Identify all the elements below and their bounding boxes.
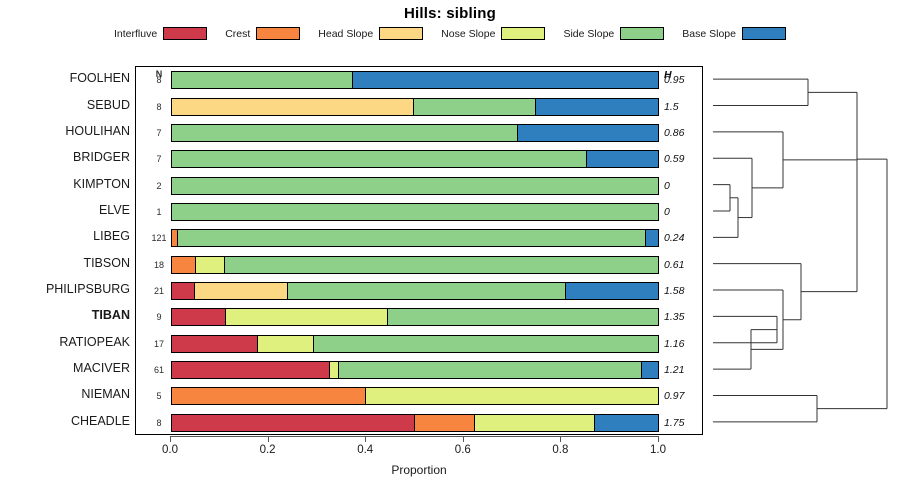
bar-segment-side-slope[interactable] [172, 204, 658, 220]
x-tick [463, 436, 464, 442]
bar-segment-side-slope[interactable] [225, 257, 658, 273]
legend-label: Head Slope [318, 28, 373, 40]
bar-segment-base-slope[interactable] [595, 415, 658, 431]
bar-segment-nose-slope[interactable] [366, 388, 658, 404]
bar-row[interactable] [171, 282, 659, 300]
y-axis-label-nieman[interactable]: NIEMAN [0, 387, 130, 401]
n-value: 17 [146, 339, 172, 349]
h-value: 1.75 [664, 417, 702, 429]
bar-track [171, 203, 659, 221]
bar-row[interactable] [171, 177, 659, 195]
h-value: 0.97 [664, 390, 702, 402]
bar-segment-nose-slope[interactable] [330, 362, 339, 378]
y-axis-label-sebud[interactable]: SEBUD [0, 98, 130, 112]
h-value: 0.24 [664, 232, 702, 244]
x-tick-label: 0.2 [248, 444, 288, 456]
bar-segment-base-slope[interactable] [642, 362, 658, 378]
legend-label: Nose Slope [441, 28, 495, 40]
bar-segment-side-slope[interactable] [314, 336, 658, 352]
plot-panel: NH80.9581.570.8670.5920101210.24180.6121… [135, 66, 703, 435]
h-value: 0.95 [664, 74, 702, 86]
x-tick [170, 436, 171, 442]
y-axis-label-bridger[interactable]: BRIDGER [0, 150, 130, 164]
bar-row[interactable] [171, 414, 659, 432]
bar-segment-base-slope[interactable] [353, 72, 658, 88]
bar-segment-nose-slope[interactable] [258, 336, 314, 352]
x-tick-label: 0.4 [345, 444, 385, 456]
bar-segment-head-slope[interactable] [172, 99, 414, 115]
bar-row[interactable] [171, 203, 659, 221]
bar-track [171, 256, 659, 274]
bar-segment-side-slope[interactable] [172, 178, 658, 194]
n-value: 18 [146, 260, 172, 270]
h-value: 1.5 [664, 101, 702, 113]
n-value: 1 [146, 207, 172, 217]
bar-row[interactable] [171, 256, 659, 274]
legend-item-head-slope[interactable]: Head Slope [318, 27, 423, 40]
legend-swatch [620, 27, 664, 40]
y-axis-label-kimpton[interactable]: KIMPTON [0, 177, 130, 191]
bar-segment-interfluve[interactable] [172, 336, 258, 352]
n-value: 7 [146, 154, 172, 164]
legend-label: Interfluve [114, 28, 157, 40]
legend-label: Side Slope [563, 28, 614, 40]
bar-segment-nose-slope[interactable] [196, 257, 225, 273]
x-axis-title: Proportion [135, 463, 703, 477]
h-value: 0 [664, 180, 702, 192]
x-tick [365, 436, 366, 442]
bar-segment-base-slope[interactable] [518, 125, 658, 141]
bar-row[interactable] [171, 361, 659, 379]
legend-label: Base Slope [682, 28, 736, 40]
bar-segment-side-slope[interactable] [172, 125, 518, 141]
bar-track [171, 177, 659, 195]
bar-segment-side-slope[interactable] [172, 72, 353, 88]
x-tick [560, 436, 561, 442]
bar-segment-base-slope[interactable] [587, 151, 658, 167]
legend-swatch [742, 27, 786, 40]
bar-row[interactable] [171, 150, 659, 168]
bar-segment-head-slope[interactable] [195, 283, 288, 299]
n-value: 8 [146, 75, 172, 85]
bar-segment-side-slope[interactable] [178, 230, 646, 246]
h-value: 1.16 [664, 338, 702, 350]
h-value: 0.86 [664, 127, 702, 139]
bar-segment-crest[interactable] [172, 257, 196, 273]
n-value: 5 [146, 391, 172, 401]
x-axis: 0.00.20.40.60.81.0 [135, 436, 703, 466]
bar-segment-interfluve[interactable] [172, 283, 195, 299]
x-tick [658, 436, 659, 442]
x-tick [268, 436, 269, 442]
y-axis-labels: FOOLHENSEBUDHOULIHANBRIDGERKIMPTONELVELI… [0, 66, 130, 435]
bar-segment-interfluve[interactable] [172, 415, 415, 431]
bar-segment-interfluve[interactable] [172, 309, 226, 325]
dendrogram-svg [705, 66, 895, 435]
h-value: 1.35 [664, 311, 702, 323]
bar-track [171, 282, 659, 300]
x-tick-label: 0.8 [540, 444, 580, 456]
bar-segment-nose-slope[interactable] [475, 415, 595, 431]
bar-segment-crest[interactable] [415, 415, 475, 431]
legend-item-base-slope[interactable]: Base Slope [682, 27, 786, 40]
bar-segment-side-slope[interactable] [414, 99, 536, 115]
bar-segment-nose-slope[interactable] [226, 309, 388, 325]
y-axis-label-philipsburg[interactable]: PHILIPSBURG [0, 282, 130, 296]
y-axis-label-ratiopeak[interactable]: RATIOPEAK [0, 335, 130, 349]
bar-segment-side-slope[interactable] [288, 283, 566, 299]
bar-track [171, 308, 659, 326]
h-value: 0 [664, 206, 702, 218]
bar-track [171, 361, 659, 379]
bar-row[interactable] [171, 387, 659, 405]
bar-track [171, 124, 659, 142]
h-value: 1.58 [664, 285, 702, 297]
n-value: 61 [146, 365, 172, 375]
chart-title: Hills: sibling [0, 5, 900, 22]
stacked-bars: NH80.9581.570.8670.5920101210.24180.6121… [136, 67, 702, 434]
x-tick-label: 1.0 [638, 444, 678, 456]
bar-track [171, 414, 659, 432]
y-axis-label-foolhen[interactable]: FOOLHEN [0, 71, 130, 85]
bar-track [171, 98, 659, 116]
x-tick-label: 0.6 [443, 444, 483, 456]
x-axis-line [170, 436, 658, 437]
y-axis-label-maciver[interactable]: MACIVER [0, 361, 130, 375]
bar-row[interactable] [171, 71, 659, 89]
y-axis-label-tibson[interactable]: TIBSON [0, 256, 130, 270]
h-value: 0.59 [664, 153, 702, 165]
y-axis-label-libeg[interactable]: LIBEG [0, 229, 130, 243]
bar-row[interactable] [171, 229, 659, 247]
bar-segment-side-slope[interactable] [388, 309, 658, 325]
h-value: 1.21 [664, 364, 702, 376]
legend-swatch [163, 27, 207, 40]
n-value: 8 [146, 418, 172, 428]
h-value: 0.61 [664, 259, 702, 271]
y-axis-label-cheadle[interactable]: CHEADLE [0, 414, 130, 428]
n-value: 7 [146, 128, 172, 138]
bar-segment-base-slope[interactable] [536, 99, 658, 115]
bar-track [171, 335, 659, 353]
bar-track [171, 71, 659, 89]
bar-row[interactable] [171, 335, 659, 353]
y-axis-label-tiban[interactable]: TIBAN [0, 308, 130, 322]
bar-track [171, 387, 659, 405]
bar-track [171, 150, 659, 168]
bar-row[interactable] [171, 124, 659, 142]
legend-label: Crest [225, 28, 250, 40]
bar-segment-side-slope[interactable] [339, 362, 642, 378]
legend-swatch [379, 27, 423, 40]
bar-track [171, 229, 659, 247]
legend-item-nose-slope[interactable]: Nose Slope [441, 27, 545, 40]
bar-row[interactable] [171, 308, 659, 326]
n-value: 2 [146, 181, 172, 191]
legend: InterfluveCrestHead SlopeNose SlopeSide … [0, 27, 900, 40]
legend-swatch [501, 27, 545, 40]
bar-segment-base-slope[interactable] [646, 230, 658, 246]
bar-segment-crest[interactable] [172, 388, 366, 404]
legend-item-crest[interactable]: Crest [225, 27, 300, 40]
n-value: 121 [146, 233, 172, 243]
n-value: 21 [146, 286, 172, 296]
y-axis-label-houlihan[interactable]: HOULIHAN [0, 124, 130, 138]
x-tick-label: 0.0 [150, 444, 190, 456]
n-value: 9 [146, 312, 172, 322]
legend-item-side-slope[interactable]: Side Slope [563, 27, 664, 40]
y-axis-label-elve[interactable]: ELVE [0, 203, 130, 217]
bar-segment-base-slope[interactable] [566, 283, 658, 299]
bar-segment-interfluve[interactable] [172, 362, 330, 378]
legend-swatch [256, 27, 300, 40]
dendrogram [705, 66, 895, 435]
legend-item-interfluve[interactable]: Interfluve [114, 27, 207, 40]
bar-segment-side-slope[interactable] [172, 151, 587, 167]
n-value: 8 [146, 102, 172, 112]
bar-row[interactable] [171, 98, 659, 116]
